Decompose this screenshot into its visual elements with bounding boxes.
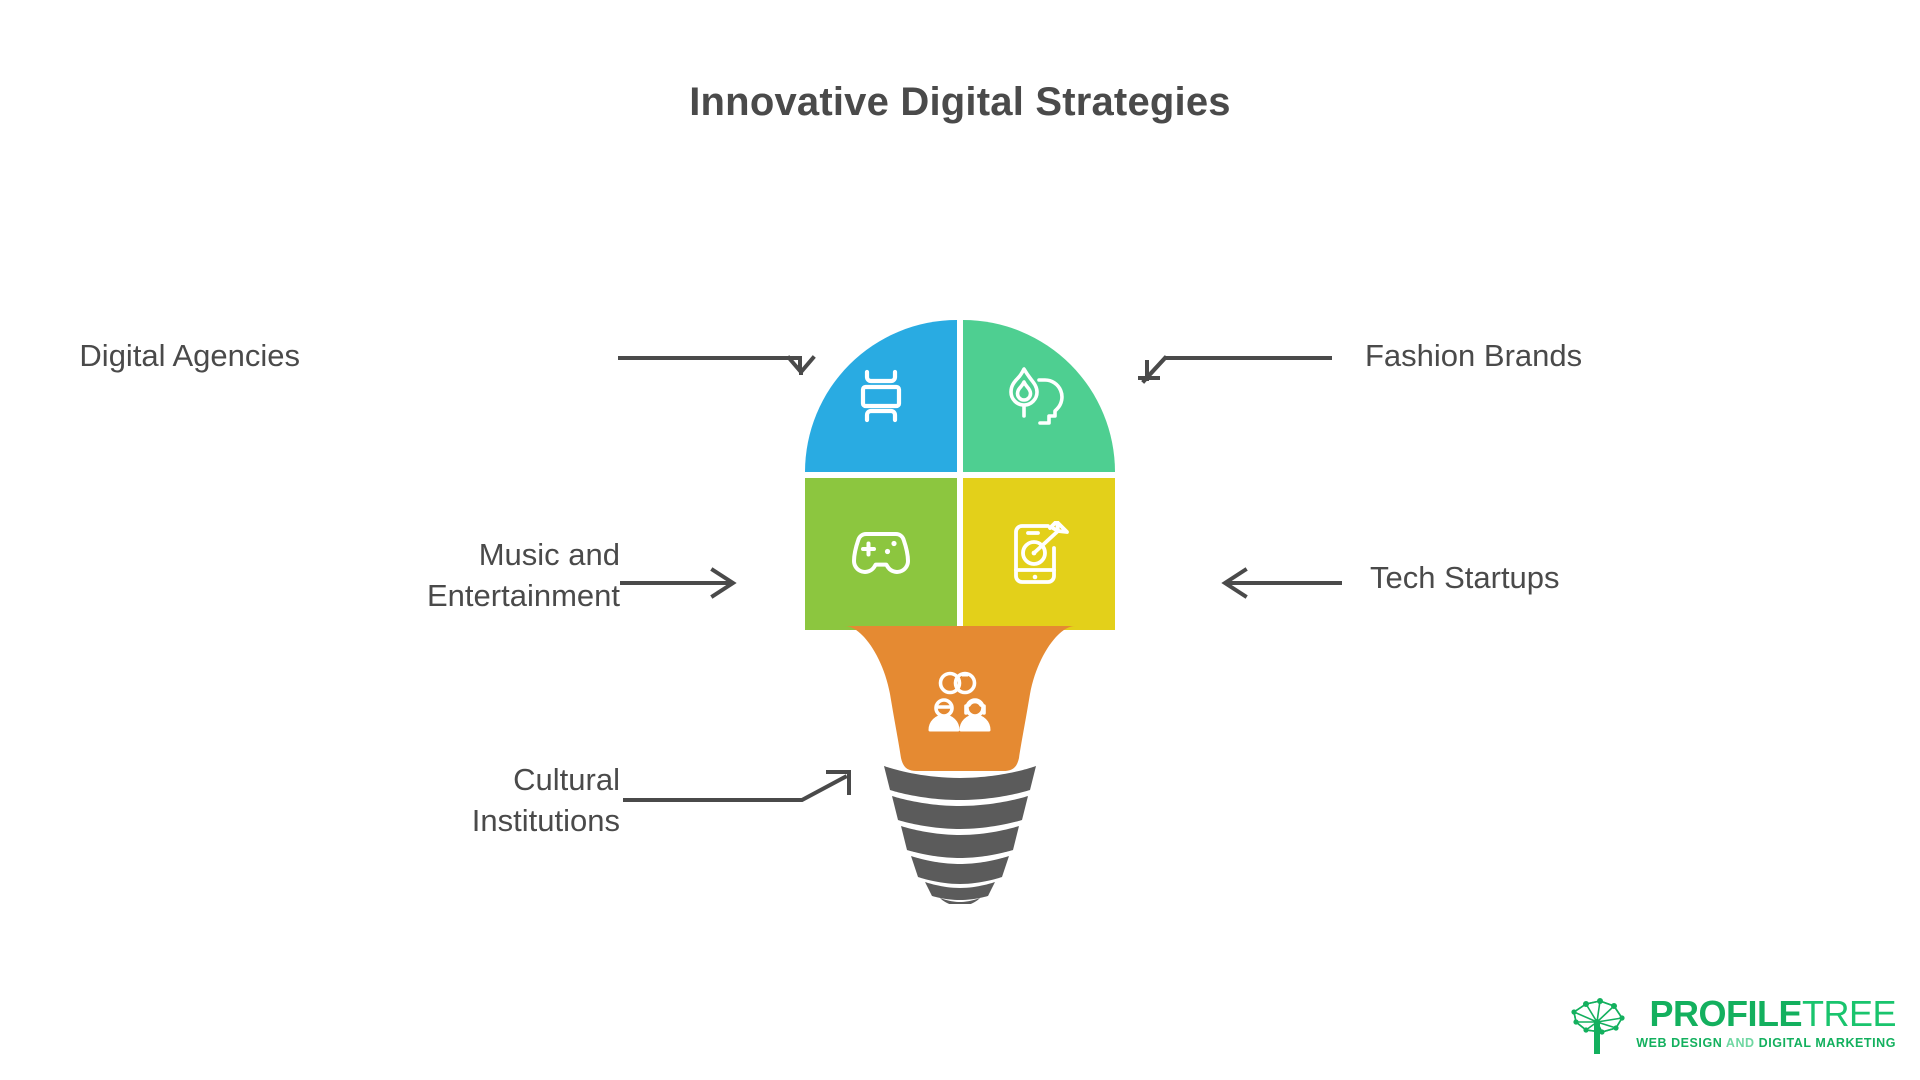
profiletree-logo: PROFILETREE WEB DESIGN AND DIGITAL MARKE…	[1566, 996, 1896, 1058]
game-controller-icon	[848, 529, 914, 579]
label-digital-agencies: Digital Agencies	[0, 336, 300, 377]
logo-wordmark: PROFILETREE	[1649, 996, 1896, 1032]
lightbulb-diagram	[760, 320, 1160, 990]
label-fashion-brands: Fashion Brands	[1365, 336, 1785, 377]
tagline-part-1: WEB DESIGN	[1636, 1036, 1722, 1050]
infographic-canvas: Innovative Digital Strategies	[0, 0, 1920, 1080]
network-tree-icon	[1566, 996, 1628, 1058]
label-music-and-entertainment: Music and Entertainment	[200, 535, 620, 617]
logo-word-tree: TREE	[1802, 993, 1896, 1034]
tagline-part-2: AND	[1726, 1036, 1755, 1050]
segment-fashion-brands[interactable]	[963, 320, 1115, 472]
label-cultural-institutions: Cultural Institutions	[200, 760, 620, 842]
label-tech-startups: Tech Startups	[1370, 558, 1790, 599]
segment-tech-startups[interactable]	[963, 478, 1115, 630]
tagline-part-3: DIGITAL MARKETING	[1759, 1036, 1896, 1050]
carousel-slide-icon	[853, 366, 909, 426]
connector-music-entertainment	[622, 570, 733, 596]
connector-fashion-brands	[1140, 358, 1330, 381]
segment-digital-agencies[interactable]	[805, 320, 957, 472]
bulb-screw-base	[868, 764, 1052, 904]
connector-tech-startups	[1225, 570, 1340, 596]
logo-text: PROFILETREE WEB DESIGN AND DIGITAL MARKE…	[1636, 996, 1896, 1050]
flame-head-icon	[1006, 365, 1072, 427]
segment-music-and-entertainment[interactable]	[805, 478, 957, 630]
mobile-target-icon	[1008, 521, 1070, 587]
segment-cultural-institutions[interactable]	[845, 626, 1075, 771]
partnership-people-icon	[924, 670, 996, 732]
logo-word-profile: PROFILE	[1649, 993, 1802, 1034]
logo-tagline: WEB DESIGN AND DIGITAL MARKETING	[1636, 1037, 1896, 1050]
bulb-globe	[805, 320, 1115, 630]
